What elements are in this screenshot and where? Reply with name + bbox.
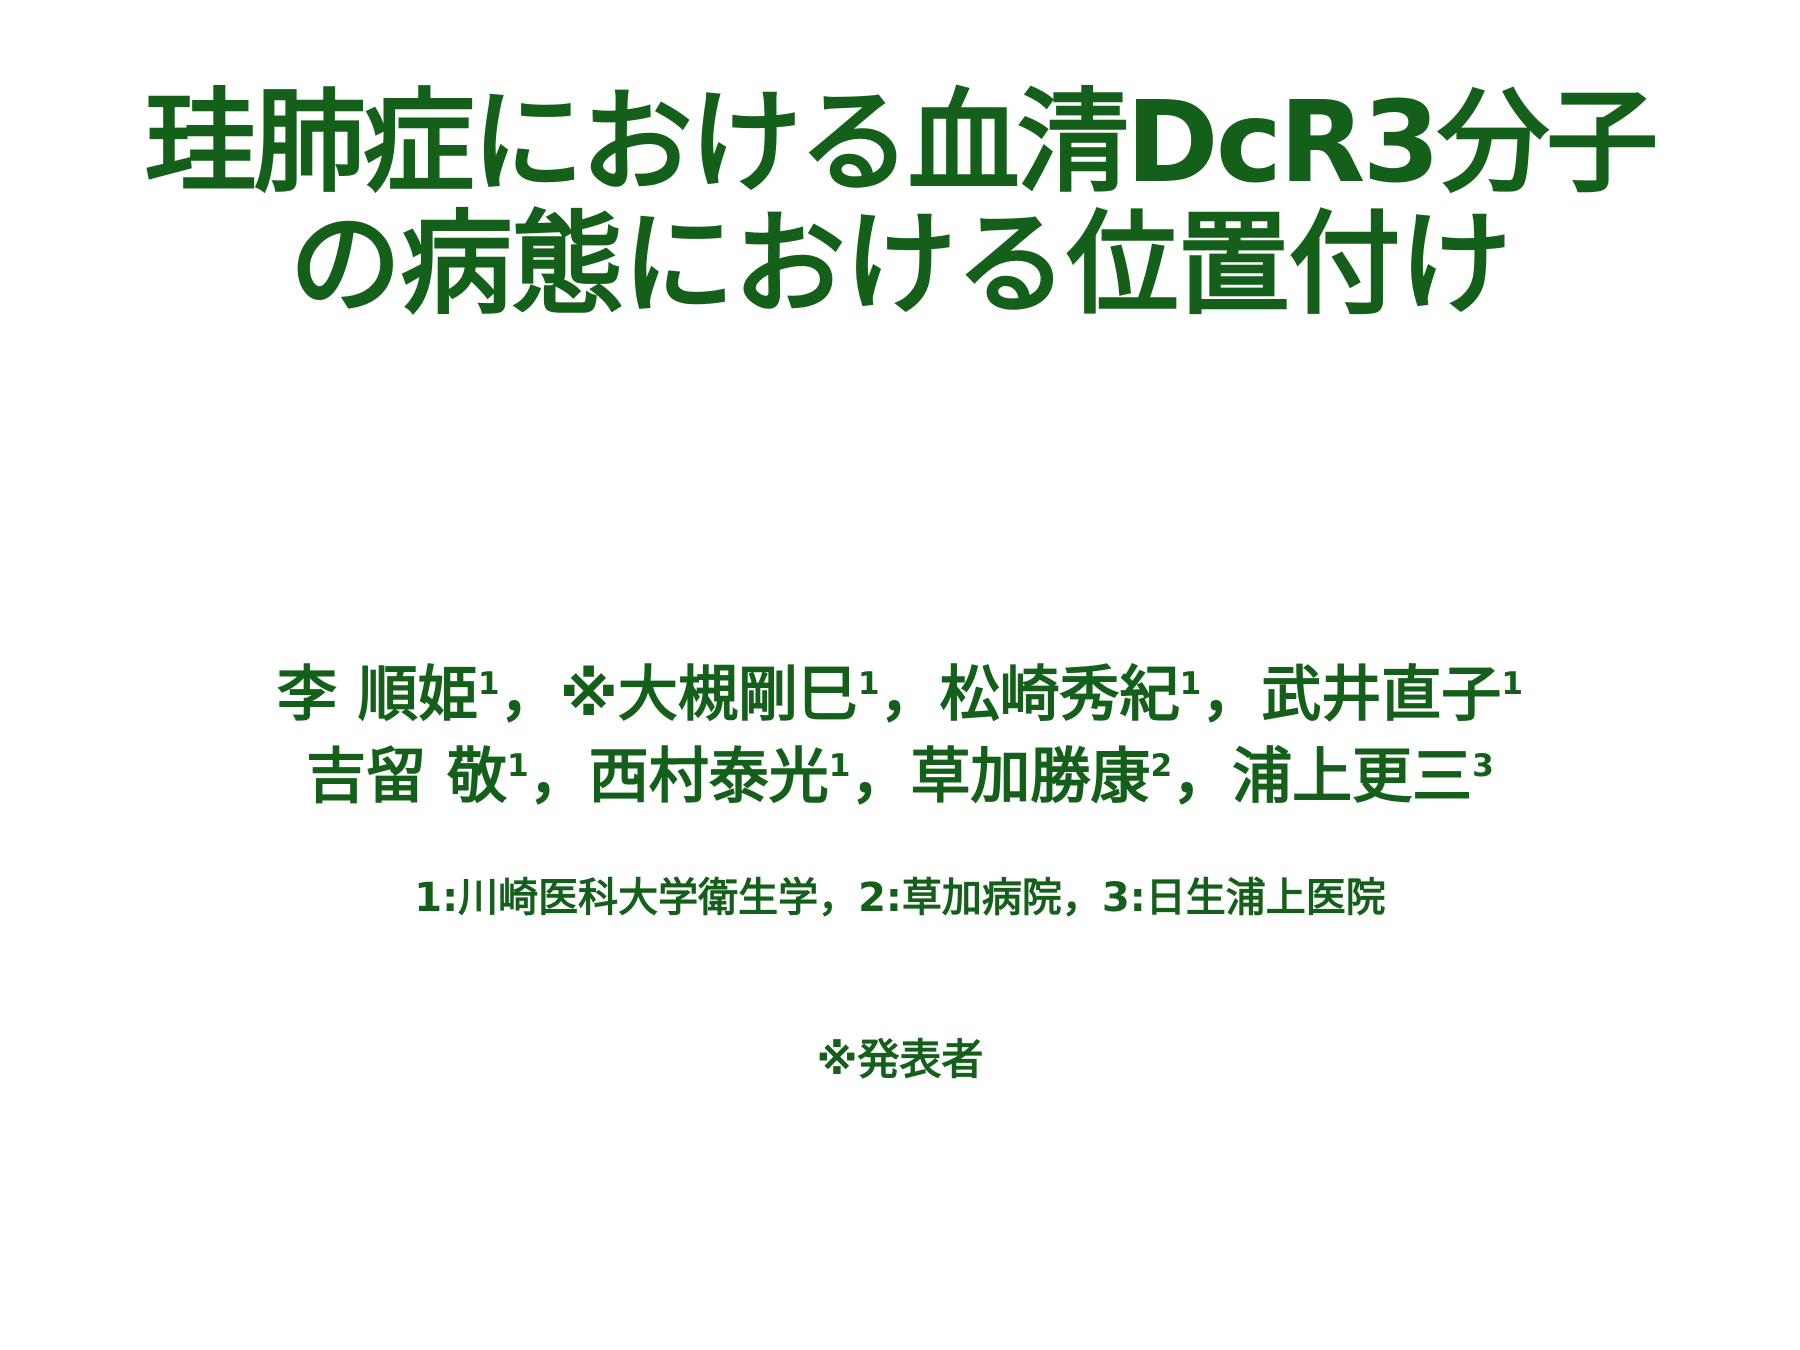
- title-line-2: の病態における位置付け: [0, 204, 1800, 326]
- title-line-1: 珪肺症における血清DcR3分子: [0, 82, 1800, 204]
- author-separator-2: ，: [880, 660, 940, 730]
- author-name-1: 李 順姫: [277, 660, 478, 730]
- author-line-2: 吉留 敬1，西村泰光1，草加勝康2，浦上更三3: [0, 736, 1800, 818]
- title-slide: 珪肺症における血清DcR3分子 の病態における位置付け 李 順姫1，※大槻剛巳1…: [0, 0, 1800, 1350]
- author-separator-1: ，: [500, 660, 560, 730]
- author-affiliation-marker-8: 3: [1472, 748, 1494, 784]
- presenter-note: ※発表者: [0, 1032, 1800, 1088]
- author-name-7: 草加勝康: [910, 742, 1150, 812]
- author-affiliation-marker-7: 2: [1150, 748, 1172, 784]
- author-name-8: 浦上更三: [1232, 742, 1472, 812]
- author-affiliation-marker-1: 1: [478, 666, 500, 702]
- author-separator-4: ，: [529, 742, 589, 812]
- affiliation-text: 1:川崎医科大学衛生学，2:草加病院，3:日生浦上医院: [0, 872, 1800, 924]
- author-line-1: 李 順姫1，※大槻剛巳1，松崎秀紀1，武井直子1: [0, 654, 1800, 736]
- author-separator-6: ，: [1172, 742, 1232, 812]
- author-affiliation-marker-5: 1: [507, 748, 529, 784]
- affiliation-list: 1:川崎医科大学衛生学，2:草加病院，3:日生浦上医院: [0, 872, 1800, 924]
- slide-title: 珪肺症における血清DcR3分子 の病態における位置付け: [0, 82, 1800, 326]
- author-separator-3: ，: [1201, 660, 1261, 730]
- author-affiliation-marker-3: 1: [1180, 666, 1202, 702]
- author-name-6: 西村泰光: [589, 742, 829, 812]
- author-name-5: 吉留 敬: [306, 742, 507, 812]
- author-name-3: 松崎秀紀: [940, 660, 1180, 730]
- author-name-2: ※大槻剛巳: [560, 660, 858, 730]
- author-affiliation-marker-2: 1: [858, 666, 880, 702]
- author-affiliation-marker-6: 1: [829, 748, 851, 784]
- presenter-note-text: ※発表者: [0, 1032, 1800, 1088]
- author-name-4: 武井直子: [1261, 660, 1501, 730]
- author-affiliation-marker-4: 1: [1501, 666, 1523, 702]
- author-list: 李 順姫1，※大槻剛巳1，松崎秀紀1，武井直子1 吉留 敬1，西村泰光1，草加勝…: [0, 654, 1800, 818]
- author-separator-5: ，: [850, 742, 910, 812]
